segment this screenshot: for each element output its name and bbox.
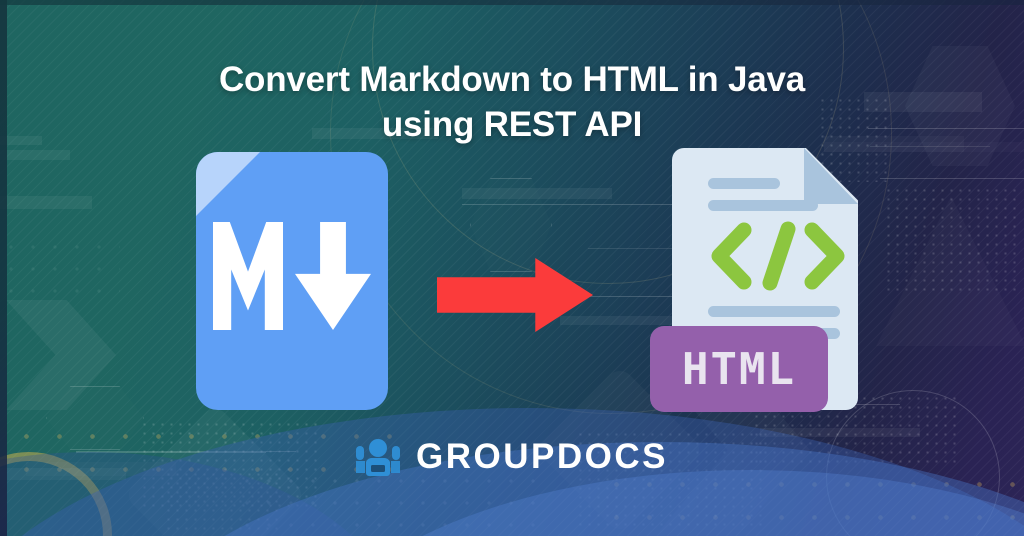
code-brackets-icon [708,220,848,292]
html-text-line-2 [708,200,818,211]
decorative-bar-2 [462,188,612,199]
decorative-rule-6 [880,178,1024,179]
title-line-1: Convert Markdown to HTML in Java [0,58,1024,103]
decorative-rule-1 [462,204,682,205]
markdown-down-arrow-icon [295,222,371,330]
groupdocs-logo: GROUPDOCS [0,435,1024,479]
markdown-fold-corner [196,152,260,216]
decorative-bar-10 [0,196,92,209]
markdown-glyph [196,222,388,330]
html-text-line-3 [708,306,840,317]
html-format-badge: HTML [650,326,828,412]
html-text-line-1 [708,178,780,189]
markdown-file-icon [196,152,388,410]
page-title: Convert Markdown to HTML in Java using R… [0,58,1024,148]
group-people-icon [356,435,400,479]
title-line-2: using REST API [0,103,1024,148]
html-badge-label: HTML [682,344,796,395]
dot-grid-leftmid [0,236,120,296]
top-edge-accent [0,0,1024,5]
decorative-bar-8 [0,150,70,160]
banner-image: Convert Markdown to HTML in Java using R… [0,0,1024,536]
html-file-icon: HTML [650,148,858,416]
markdown-letter-m-icon [213,222,283,330]
dot-grid-right [884,186,1020,296]
groupdocs-wordmark: GROUPDOCS [416,437,668,477]
